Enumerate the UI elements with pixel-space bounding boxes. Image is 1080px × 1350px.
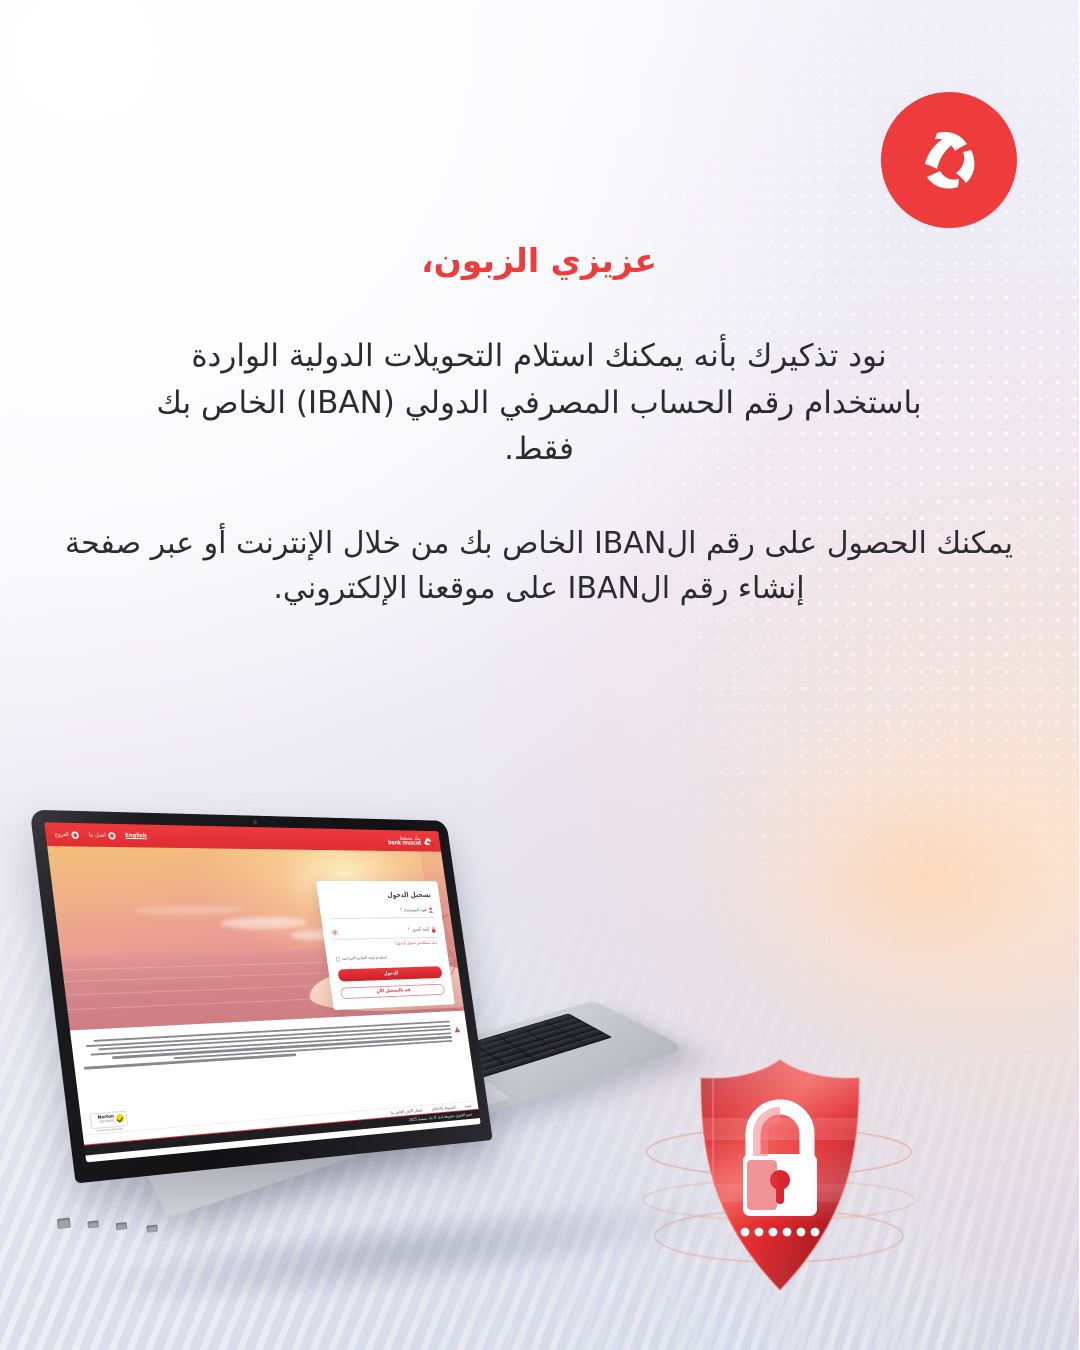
security-shield-graphic [640, 1040, 920, 1330]
usb-port [88, 1220, 100, 1228]
norton-checkmark-icon [117, 1114, 126, 1123]
nav-item-contact[interactable]: اتصل بنا [89, 831, 117, 839]
username-label: هوية المستخدم [405, 907, 428, 912]
phone-icon [109, 832, 117, 840]
bank-muscat-logo [882, 92, 1018, 228]
site-body: Norton SECURED powered by symantec قيمة … [71, 1011, 481, 1156]
message-paragraph-2: يمكنك الحصول على رقم الIBAN الخاص بك من … [58, 521, 1022, 611]
lock-icon [432, 927, 437, 933]
virtual-keyboard-checkbox[interactable] [337, 957, 341, 961]
login-card[interactable]: تسجيل الدخول هوية المستخدم * [317, 881, 456, 1010]
nav-item-branches-label: الفروع [56, 832, 71, 838]
greeting-heading: عزيزي الزبون، [58, 240, 1022, 281]
warning-triangle-icon [454, 1020, 463, 1047]
link-separator: | [427, 1108, 429, 1112]
laptop-lid: بنك مسقط bank muscat English اتصل بنا ال… [31, 810, 494, 1184]
laptop-screen[interactable]: بنك مسقط bank muscat English اتصل بنا ال… [45, 822, 481, 1162]
username-required-mark: * [401, 908, 404, 913]
password-required-mark: * [409, 928, 412, 933]
language-switch-link[interactable]: English [126, 832, 148, 839]
shield-lock-icon [688, 1056, 874, 1294]
message-block: عزيزي الزبون، نود تذكيرك بأنه يمكنك استل… [0, 240, 1080, 611]
forgot-password-link[interactable]: لديك مشكلة في تسجيل الدخول؟ [335, 941, 439, 948]
norton-subtitle: SECURED [99, 1120, 116, 1124]
nav-item-contact-label: اتصل بنا [90, 832, 108, 838]
register-button[interactable]: قم بالتسجيل الآن [341, 984, 446, 999]
password-label: كلمة المرور [413, 927, 431, 932]
username-input[interactable] [331, 917, 435, 919]
site-hero-image: تسجيل الدخول هوية المستخدم * [48, 846, 465, 1030]
virtual-keyboard-option[interactable]: استخدام لوحة المفاتيح الافتراضية [337, 954, 441, 961]
security-warning-text [82, 1021, 455, 1072]
site-logo-mark [423, 835, 434, 847]
password-field[interactable]: كلمة المرور * لديك مشكلة في تسجيل الدخول… [333, 927, 439, 948]
login-title: تسجيل الدخول [328, 890, 433, 899]
user-icon [429, 907, 434, 913]
site-logo-english: bank muscat [389, 840, 423, 846]
site-nav: English اتصل بنا الفروع [55, 831, 148, 840]
link-separator: | [461, 1105, 463, 1109]
password-input[interactable] [334, 937, 438, 940]
usb-port [147, 1225, 159, 1233]
usb-port [117, 1222, 129, 1230]
location-icon [72, 831, 80, 839]
nav-item-branches[interactable]: الفروع [55, 831, 80, 839]
username-field[interactable]: هوية المستخدم * [330, 907, 435, 919]
webcam-icon [254, 820, 259, 824]
message-paragraph-1: نود تذكيرك بأنه يمكنك استلام التحويلات ا… [58, 333, 1022, 473]
site-bank-logo[interactable]: بنك مسقط bank muscat [388, 835, 435, 847]
ethernet-port [58, 1218, 72, 1229]
login-button[interactable]: الدخول [338, 966, 443, 982]
virtual-keyboard-label: استخدام لوحة المفاتيح الافتراضية [343, 956, 388, 962]
norton-secured-badge: Norton SECURED powered by symantec [91, 1110, 130, 1133]
eye-icon[interactable] [333, 929, 339, 935]
